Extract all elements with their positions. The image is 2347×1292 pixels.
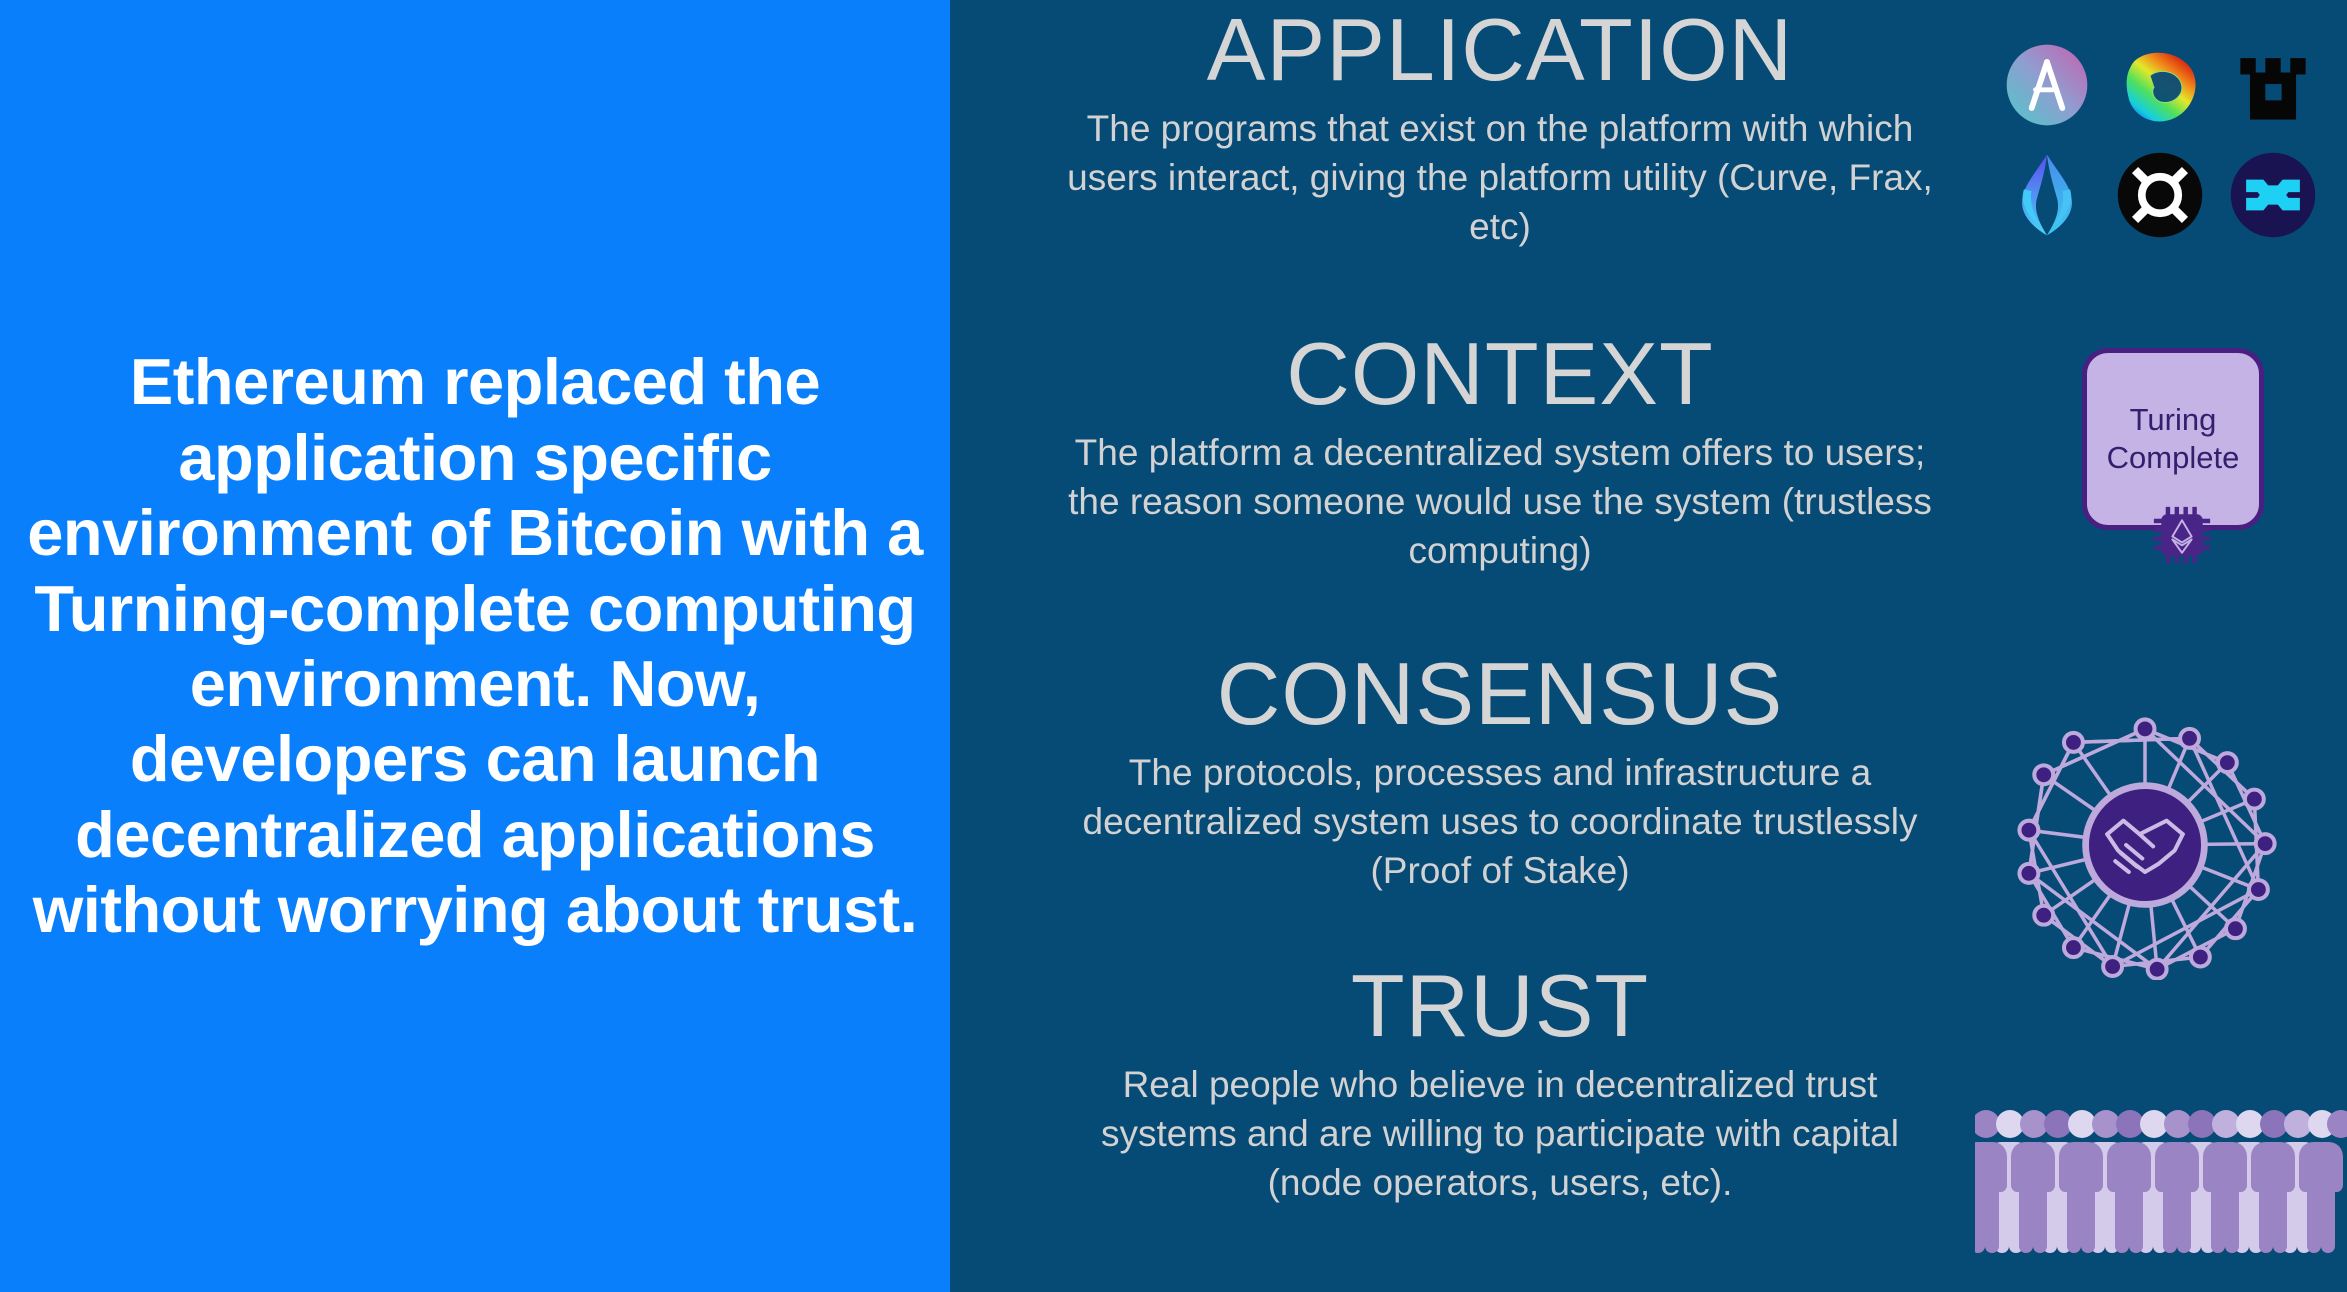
infographic-canvas: Ethereum replaced the application specif… xyxy=(0,0,2347,1292)
stack-layer-consensus: CONSENSUS The protocols, processes and i… xyxy=(950,650,2050,896)
stack-layer-context: CONTEXT The platform a decentralized sys… xyxy=(950,330,2050,576)
layer-description-context: The platform a decentralized system offe… xyxy=(1050,428,1950,576)
network-handshake-icon xyxy=(1995,710,2295,980)
left-statement-panel: Ethereum replaced the application specif… xyxy=(0,0,950,1292)
layer-title-consensus: CONSENSUS xyxy=(950,650,2050,738)
layer-description-application: The programs that exist on the platform … xyxy=(1050,104,1950,252)
lido-logo xyxy=(1999,147,2095,243)
stack-diagram-panel: APPLICATION The programs that exist on t… xyxy=(950,0,2347,1292)
turing-badge-line-1: Turing xyxy=(2130,401,2217,439)
stack-layer-application: APPLICATION The programs that exist on t… xyxy=(950,6,2050,252)
ethereum-statement-text: Ethereum replaced the application specif… xyxy=(26,344,924,947)
frax-logo xyxy=(2225,37,2321,133)
rocketpool-logo xyxy=(2112,147,2208,243)
turing-badge-line-2: Complete xyxy=(2107,439,2240,477)
layer-title-application: APPLICATION xyxy=(950,6,2050,94)
protocol-logo-grid xyxy=(1990,30,2330,250)
ethereum-chip-icon xyxy=(2145,498,2219,572)
synthetix-logo xyxy=(2225,147,2321,243)
aave-logo xyxy=(1999,37,2095,133)
stack-layer-trust: TRUST Real people who believe in decentr… xyxy=(950,962,2050,1208)
layer-description-consensus: The protocols, processes and infrastruct… xyxy=(1050,748,1950,896)
layer-title-trust: TRUST xyxy=(950,962,2050,1050)
crowd-of-people-icon xyxy=(1975,1102,2347,1292)
layer-description-trust: Real people who believe in decentralized… xyxy=(1050,1060,1950,1208)
layer-title-context: CONTEXT xyxy=(950,330,2050,418)
curve-logo xyxy=(2112,37,2208,133)
